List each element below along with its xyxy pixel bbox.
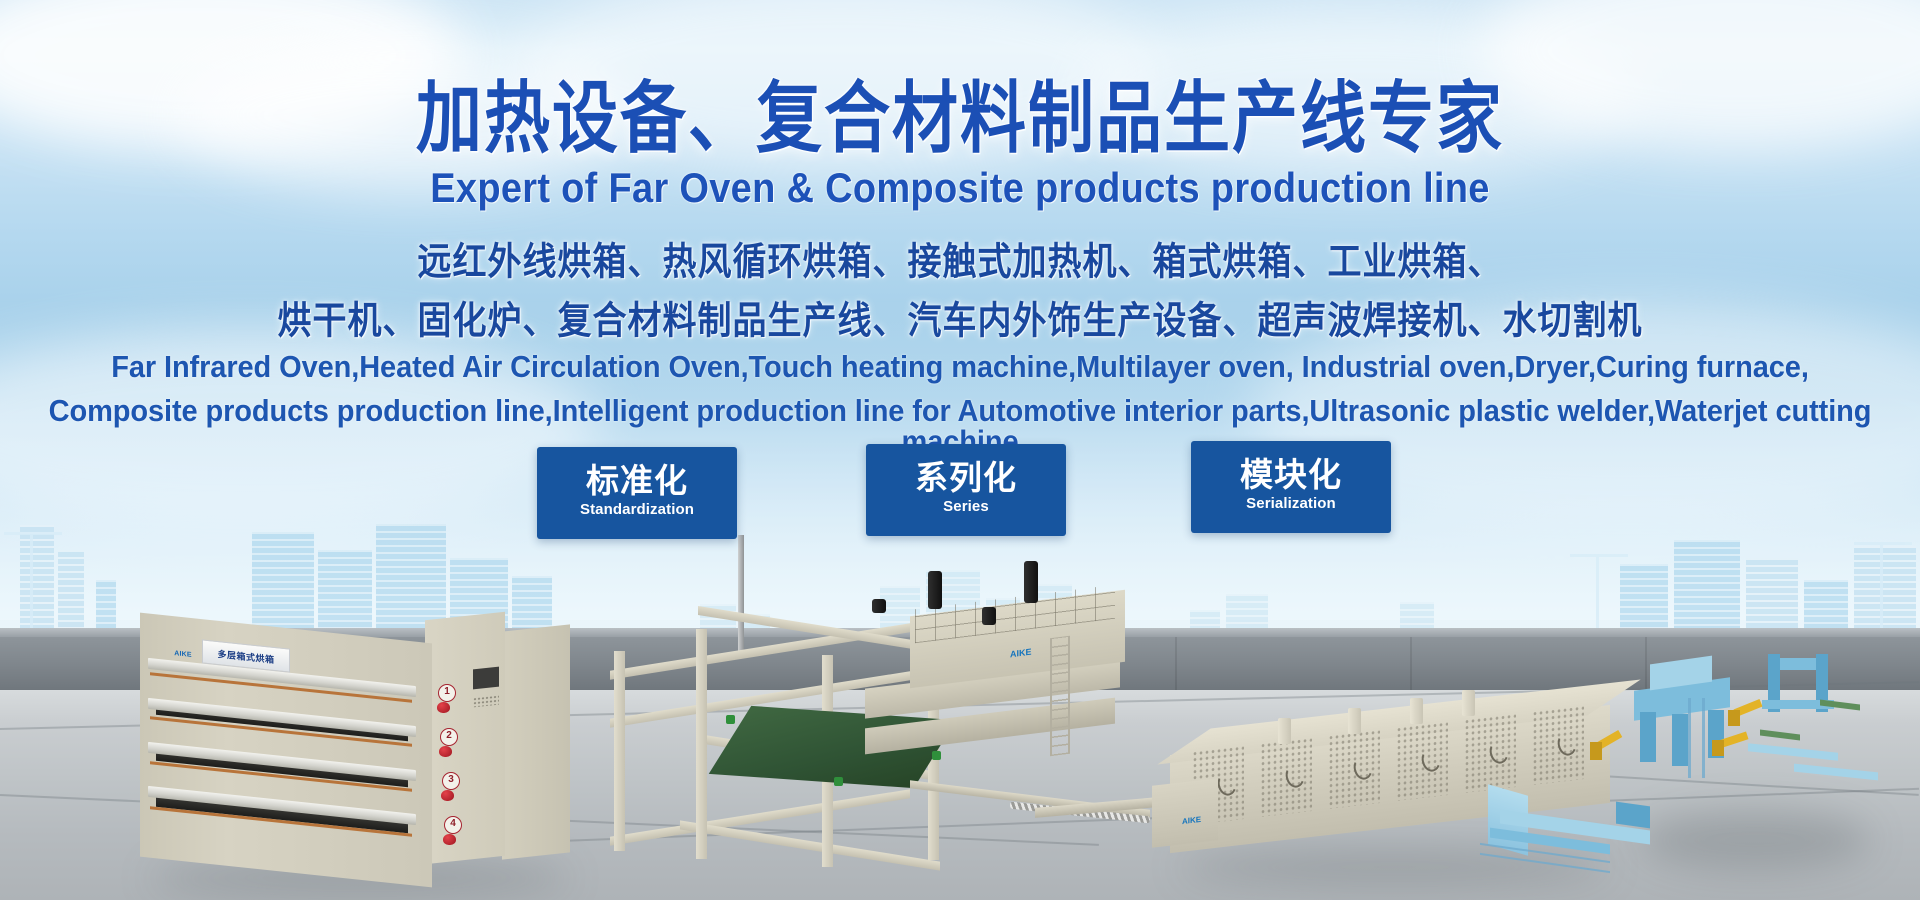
layer-number-2: 2: [440, 728, 458, 746]
badge-label-cn: 系列化: [915, 461, 1017, 496]
robot-base: [1590, 742, 1602, 760]
product-list-english-line-1: Far Infrared Oven,Heated Air Circulation…: [0, 353, 1920, 383]
hydraulic-cylinder: [1024, 561, 1038, 603]
frame-post: [614, 651, 625, 851]
oven-control-cabinet: [425, 612, 505, 864]
promotional-banner: AIKE 多层箱式烘箱 1 2 3 4: [0, 0, 1920, 900]
access-ladder: [1050, 636, 1070, 756]
robot-base: [1712, 740, 1724, 756]
hydraulic-cylinder: [928, 571, 942, 609]
handling-table: [1748, 743, 1838, 760]
layer-number-3: 3: [442, 772, 460, 790]
belt-roller: [834, 777, 843, 786]
badge-series[interactable]: 系列化 Series: [866, 444, 1066, 536]
automation-production-line: [1530, 640, 1920, 890]
badge-serialization[interactable]: 模块化 Serialization: [1191, 441, 1391, 533]
tunnel-oven-control-box: [1152, 778, 1218, 848]
oven-rear-cabinet: [502, 624, 570, 859]
exhaust-stack: [1278, 718, 1291, 744]
belt-roller: [726, 715, 735, 724]
feature-badge-group: 标准化 Standardization 系列化 Series 模块化 Seria…: [0, 447, 1920, 557]
badge-label-cn: 模块化: [1240, 458, 1342, 493]
layer-knob-1[interactable]: [437, 702, 450, 713]
ladder-rail: [1688, 698, 1691, 778]
product-list-chinese-line-2: 烘干机、固化炉、复合材料制品生产线、汽车内外饰生产设备、超声波焊接机、水切割机: [0, 302, 1920, 340]
badge-standardization[interactable]: 标准化 Standardization: [537, 447, 737, 539]
layer-knob-3[interactable]: [441, 790, 454, 801]
layer-number-1: 1: [438, 684, 456, 702]
composite-press-machine: AIKE: [610, 585, 1170, 900]
banner-title-english: Expert of Far Oven & Composite products …: [0, 168, 1920, 210]
multilayer-box-oven: AIKE 多层箱式烘箱 1 2 3 4: [140, 620, 570, 890]
badge-label-cn: 标准化: [586, 464, 688, 499]
badge-label-en: Serialization: [1246, 492, 1336, 516]
layer-knob-4[interactable]: [443, 834, 456, 845]
press-leg: [1672, 714, 1688, 766]
conveyor-motor: [1616, 802, 1650, 829]
control-screen: [473, 667, 499, 690]
hydraulic-cylinder: [982, 607, 996, 625]
badge-label-en: Standardization: [580, 498, 694, 522]
robot-base: [1728, 710, 1740, 726]
green-rail: [1760, 730, 1800, 741]
banner-title-chinese: 加热设备、复合材料制品生产线专家: [0, 79, 1920, 157]
hydraulic-cylinder: [872, 599, 886, 613]
belt-roller: [932, 751, 941, 760]
product-list-chinese-line-1: 远红外线烘箱、热风循环烘箱、接触式加热机、箱式烘箱、工业烘箱、: [0, 243, 1920, 281]
badge-label-en: Series: [943, 495, 989, 519]
handling-table: [1794, 764, 1878, 781]
exhaust-stack: [1410, 698, 1423, 724]
exhaust-stack: [1462, 690, 1475, 716]
ladder-rail: [1702, 698, 1705, 778]
press-leg: [1640, 712, 1656, 762]
layer-number-4: 4: [444, 816, 462, 834]
frame-post: [696, 629, 707, 859]
frame-rail: [680, 820, 940, 870]
layer-knob-2[interactable]: [439, 746, 452, 757]
exhaust-stack: [1348, 708, 1361, 734]
